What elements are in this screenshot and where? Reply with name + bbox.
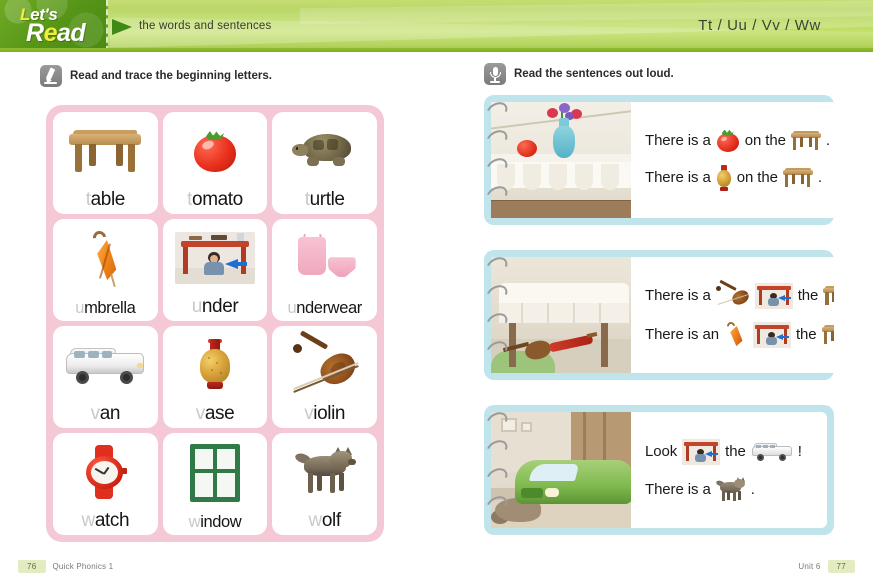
sentence-segment: There is a <box>645 169 711 186</box>
sentence-segment: on the <box>745 132 786 149</box>
instruction-left-label: Read and trace the beginning letters. <box>70 70 272 82</box>
sentence-period: . <box>751 481 755 498</box>
word-label-table: table <box>86 190 125 209</box>
watch-image <box>53 433 158 511</box>
word-cell-underwear[interactable]: underwear <box>272 219 377 321</box>
violin-icon <box>716 285 750 307</box>
footer-right: Unit 6 77 <box>798 560 855 573</box>
sentence-segment: the <box>798 287 819 304</box>
sentence-text-block-3: Look the ! There is a . <box>631 412 827 528</box>
scene-image-2 <box>491 257 631 373</box>
table-icon <box>791 131 821 151</box>
under-icon <box>682 439 720 465</box>
word-label-watch: watch <box>82 511 130 530</box>
word-label-van: van <box>91 404 120 423</box>
sentence-period: . <box>826 132 830 149</box>
word-cell-turtle[interactable]: turtle <box>272 112 377 214</box>
sentence-panel-3: Look the ! There is a . <box>484 405 834 535</box>
violin-image <box>272 326 377 404</box>
table-icon <box>823 286 834 306</box>
van-image <box>53 326 158 404</box>
word-cell-umbrella[interactable]: umbrella <box>53 219 158 321</box>
vase-icon <box>716 165 732 191</box>
sentence-text-block-2: There is a the . There is an the . <box>631 257 834 373</box>
instruction-left: Read and trace the beginning letters. <box>40 65 272 87</box>
sentence-panel-1: There is a on the . There is a on the . <box>484 95 834 225</box>
word-label-window: window <box>189 514 242 531</box>
tomato-icon <box>716 130 740 152</box>
unit-label: Unit 6 <box>798 562 820 571</box>
word-label-turtle: turtle <box>305 190 345 209</box>
underwear-image <box>272 219 377 300</box>
sentence-text-block-1: There is a on the . There is a on the . <box>631 102 834 218</box>
window-image <box>163 433 268 514</box>
table-icon <box>783 168 813 188</box>
header-subtitle: the words and sentences <box>139 20 271 32</box>
under-image <box>163 219 268 297</box>
scene-image-1 <box>491 102 631 218</box>
sentence-segment: There is a <box>645 132 711 149</box>
sentence-segment: the <box>725 443 746 460</box>
umbrella-icon <box>724 322 748 348</box>
logo-line-read: Read <box>26 19 85 48</box>
vase-image <box>163 326 268 404</box>
sentence-line[interactable]: There is an the . <box>645 322 834 348</box>
header-bottom-edge <box>0 48 873 52</box>
tomato-image <box>163 112 268 190</box>
sentence-line[interactable]: Look the ! <box>645 439 817 465</box>
wolf-image <box>272 433 377 511</box>
word-label-violin: violin <box>304 404 345 423</box>
word-cell-watch[interactable]: watch <box>53 433 158 535</box>
lets-read-logo: Let's Read <box>0 0 108 52</box>
sentence-line[interactable]: There is a on the . <box>645 165 830 191</box>
sentence-line[interactable]: There is a . <box>645 478 817 502</box>
word-label-wolf: wolf <box>309 511 341 530</box>
word-cell-tomato[interactable]: tomato <box>163 112 268 214</box>
page-number-right: 77 <box>828 560 856 573</box>
sentence-segment: There is a <box>645 287 711 304</box>
sentence-period: . <box>818 169 822 186</box>
sentence-segment: on the <box>737 169 778 186</box>
footer-left: 76 Quick Phonics 1 <box>18 560 113 573</box>
word-cell-wolf[interactable]: wolf <box>272 433 377 535</box>
turtle-image <box>272 112 377 190</box>
page-header: Let's Read the words and sentences Tt / … <box>0 0 873 52</box>
under-icon <box>753 322 791 348</box>
umbrella-image <box>53 219 158 300</box>
table-icon <box>822 325 835 345</box>
word-cell-under[interactable]: under <box>163 219 268 321</box>
microphone-icon <box>484 63 506 85</box>
word-grid: table tomato turtle umbrella under under… <box>46 105 384 542</box>
sentence-line[interactable]: There is a on the . <box>645 130 830 152</box>
sentence-segment: There is a <box>645 481 711 498</box>
word-label-underwear: underwear <box>287 300 361 317</box>
under-icon <box>755 283 793 309</box>
sentence-segment: the <box>796 326 817 343</box>
header-arrow-icon <box>112 19 132 35</box>
header-letter-set: Tt / Uu / Vv / Ww <box>698 17 821 34</box>
word-label-umbrella: umbrella <box>75 300 135 317</box>
word-label-vase: vase <box>196 404 235 423</box>
instruction-right: Read the sentences out loud. <box>484 63 674 85</box>
van-icon <box>751 442 793 462</box>
scene-image-3 <box>491 412 631 528</box>
table-image <box>53 112 158 190</box>
word-cell-window[interactable]: window <box>163 433 268 535</box>
page-number-left: 76 <box>18 560 46 573</box>
wolf-icon <box>716 478 746 502</box>
word-cell-violin[interactable]: violin <box>272 326 377 428</box>
sentence-segment: There is an <box>645 326 719 343</box>
sentence-segment: Look <box>645 443 677 460</box>
pencil-icon <box>40 65 62 87</box>
book-title: Quick Phonics 1 <box>53 562 114 571</box>
word-cell-vase[interactable]: vase <box>163 326 268 428</box>
word-label-under: under <box>192 297 239 316</box>
sentence-panel-2: There is a the . There is an the . <box>484 250 834 380</box>
sentence-line[interactable]: There is a the . <box>645 283 834 309</box>
instruction-right-label: Read the sentences out loud. <box>514 68 674 80</box>
sentence-exclamation: ! <box>798 443 802 460</box>
word-cell-table[interactable]: table <box>53 112 158 214</box>
word-cell-van[interactable]: van <box>53 326 158 428</box>
word-label-tomato: tomato <box>187 190 243 209</box>
